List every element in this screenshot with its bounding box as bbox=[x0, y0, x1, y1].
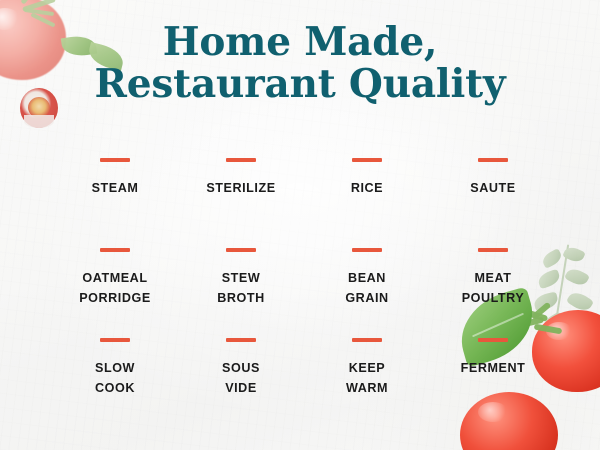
feature-oatmeal-porridge[interactable]: OATMEAL PORRIDGE bbox=[52, 240, 178, 330]
accent-dash-icon bbox=[100, 158, 130, 162]
feature-label: STEW BROTH bbox=[217, 268, 265, 308]
feature-label: OATMEAL PORRIDGE bbox=[79, 268, 151, 308]
accent-dash-icon bbox=[478, 338, 508, 342]
feature-label: SOUS VIDE bbox=[222, 358, 260, 398]
feature-label: STEAM bbox=[92, 178, 139, 198]
feature-label: SLOW COOK bbox=[95, 358, 135, 398]
feature-row-3: SLOW COOK SOUS VIDE KEEP WARM FERMENT bbox=[52, 330, 556, 410]
feature-keep-warm[interactable]: KEEP WARM bbox=[304, 330, 430, 410]
feature-row-1: STEAM STERILIZE RICE SAUTE bbox=[52, 150, 556, 240]
feature-saute[interactable]: SAUTE bbox=[430, 150, 556, 240]
accent-dash-icon bbox=[478, 158, 508, 162]
feature-rice[interactable]: RICE bbox=[304, 150, 430, 240]
feature-label: SAUTE bbox=[470, 178, 515, 198]
feature-grid: STEAM STERILIZE RICE SAUTE OATMEAL PORRI… bbox=[52, 150, 556, 410]
feature-meat-poultry[interactable]: MEAT POULTRY bbox=[430, 240, 556, 330]
accent-dash-icon bbox=[100, 338, 130, 342]
accent-dash-icon bbox=[100, 248, 130, 252]
page-title: Home Made, Restaurant Quality bbox=[0, 22, 600, 105]
accent-dash-icon bbox=[226, 248, 256, 252]
accent-dash-icon bbox=[226, 158, 256, 162]
title-line-2: Restaurant Quality bbox=[0, 64, 600, 106]
feature-label: KEEP WARM bbox=[346, 358, 388, 398]
feature-ferment[interactable]: FERMENT bbox=[430, 330, 556, 410]
feature-row-2: OATMEAL PORRIDGE STEW BROTH BEAN GRAIN M… bbox=[52, 240, 556, 330]
accent-dash-icon bbox=[352, 338, 382, 342]
feature-stew-broth[interactable]: STEW BROTH bbox=[178, 240, 304, 330]
feature-label: STERILIZE bbox=[206, 178, 275, 198]
feature-slow-cook[interactable]: SLOW COOK bbox=[52, 330, 178, 410]
feature-steam[interactable]: STEAM bbox=[52, 150, 178, 240]
feature-sous-vide[interactable]: SOUS VIDE bbox=[178, 330, 304, 410]
feature-sterilize[interactable]: STERILIZE bbox=[178, 150, 304, 240]
feature-label: BEAN GRAIN bbox=[345, 268, 388, 308]
accent-dash-icon bbox=[226, 338, 256, 342]
feature-bean-grain[interactable]: BEAN GRAIN bbox=[304, 240, 430, 330]
feature-label: FERMENT bbox=[461, 358, 526, 378]
feature-label: MEAT POULTRY bbox=[462, 268, 525, 308]
accent-dash-icon bbox=[352, 248, 382, 252]
poster-canvas: Home Made, Restaurant Quality STEAM STER… bbox=[0, 0, 600, 450]
title-line-1: Home Made, bbox=[0, 22, 600, 64]
feature-label: RICE bbox=[351, 178, 383, 198]
accent-dash-icon bbox=[352, 158, 382, 162]
accent-dash-icon bbox=[478, 248, 508, 252]
